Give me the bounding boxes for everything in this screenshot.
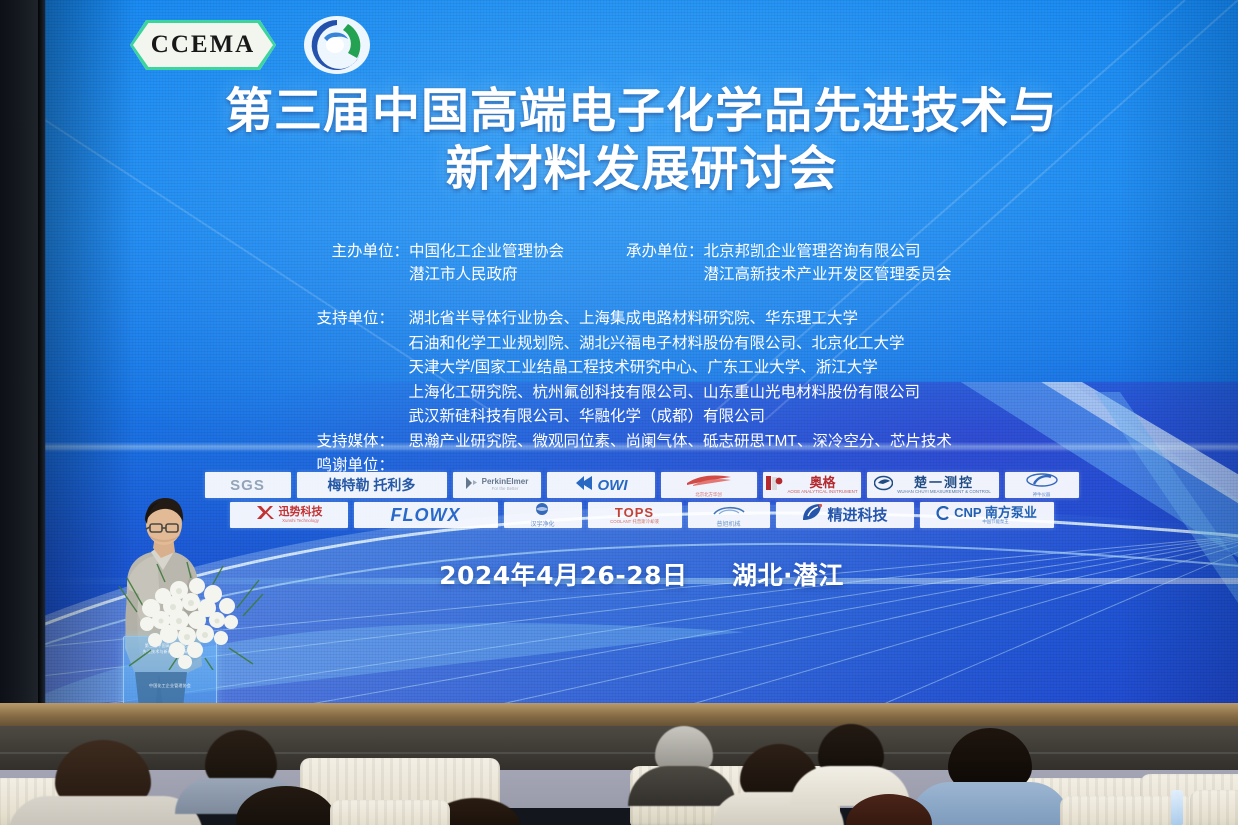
host-organizer-label: 主办单位： <box>331 240 409 286</box>
lectern-text-4: 中国化工企业管理协会 <box>124 683 216 688</box>
c-blue-icon <box>936 506 950 525</box>
sponsor-logo-perkinelmer: PerkinElmer For the Better <box>453 472 541 498</box>
screen-left-edge <box>38 0 46 712</box>
sponsor-logo-owi: OWI <box>547 472 655 498</box>
conference-stage-photo: CCEMA 第三届中国高端电子化学品先进技术与 新材料发展研讨会 主办单位： <box>0 0 1238 825</box>
sponsor-logo-sgs: SGS <box>205 472 291 498</box>
support-media-label: 支持媒体： <box>317 430 409 455</box>
sponsor-logo-tops: TOPS COOLANT 托普斯冷却液 <box>588 502 682 528</box>
sponsor-row-1: SGS 梅特勒 托利多 PerkinElmer For the Better <box>205 472 1079 498</box>
co-organizer-label: 承办单位： <box>626 240 704 286</box>
swirl-logo <box>302 14 372 76</box>
title-line-2: 新材料发展研讨会 <box>45 140 1238 198</box>
support-units-label: 支持单位： <box>317 307 409 332</box>
host-organizer-value-1: 中国化工企业管理协会 <box>409 240 564 263</box>
support-units-line-3: 天津大学/国家工业结晶工程技术研究中心、广东工业大学、浙江大学 <box>409 356 967 381</box>
co-organizer: 承办单位： 北京邦凯企业管理咨询有限公司 潜江高新技术产业开发区管理委员会 <box>626 240 952 286</box>
ccema-logo-text: CCEMA <box>151 31 255 59</box>
flower-arrangement <box>117 560 267 670</box>
seat <box>1060 796 1210 825</box>
sponsor-logo-cnp: CNP 南方泵业 中国节能泵王 <box>920 502 1054 528</box>
co-organizer-value-1: 北京邦凯企业管理咨询有限公司 <box>704 240 952 263</box>
sponsor-logo-chuyi: 楚一测控 WUHAN CHUYI MEASUREMENT & CONTROL <box>867 472 999 498</box>
organizer-row: 主办单位： 中国化工企业管理协会 潜江市人民政府 承办单位： 北京邦凯企业管理咨… <box>45 240 1238 286</box>
support-block: 支持单位： 湖北省半导体行业协会、上海集成电路材料研究院、华东理工大学 石油和化… <box>45 307 1238 479</box>
swoosh-red-icon <box>685 473 733 492</box>
eye-blue-icon <box>874 475 893 496</box>
support-units-line-2: 石油和化学工业规划院、湖北兴福电子材料股份有限公司、北京化工大学 <box>409 332 967 357</box>
sponsor-logo-jingjin: 精进科技 <box>776 502 914 528</box>
host-organizer: 主办单位： 中国化工企业管理协会 潜江市人民政府 <box>331 240 564 286</box>
attendee-body <box>8 796 203 825</box>
arc-blue-icon <box>712 503 746 521</box>
support-units-line-4: 上海化工研究院、杭州氟创科技有限公司、山东重山光电材料股份有限公司 <box>409 381 967 406</box>
sponsor-row-2: 迅势科技 Xunshi Technology FLOWX <box>230 502 1054 528</box>
audience-area <box>0 700 1238 825</box>
event-location: 湖北·潜江 <box>732 556 844 592</box>
oval-blue-icon <box>1025 473 1059 492</box>
water-bottle <box>1171 790 1183 825</box>
sponsor-logo-aoge: 奥格 AOGE ANALYTICAL INSTRUMENT <box>763 472 861 498</box>
leaf-blue-icon <box>801 503 823 527</box>
event-date: 2024年4月26-28日 <box>439 556 687 592</box>
support-units-line-5: 武汉新硅科技有限公司、华融化学（成都）有限公司 <box>409 405 967 430</box>
red-block-icon <box>765 474 783 496</box>
globe-blue-icon <box>534 502 550 521</box>
wave-icon <box>574 475 594 496</box>
header-logo-row: CCEMA <box>130 14 372 76</box>
co-organizer-value-2: 潜江高新技术产业开发区管理委员会 <box>704 263 952 286</box>
sponsor-logo-hanyu: 汉宇净化 <box>504 502 582 528</box>
seat <box>1190 790 1238 825</box>
support-units-line-1: 湖北省半导体行业协会、上海集成电路材料研究院、华东理工大学 <box>409 307 967 332</box>
title-line-1: 第三届中国高端电子化学品先进技术与 <box>45 82 1238 140</box>
triangle-icon <box>465 476 478 495</box>
sponsor-logo-naura: 北京北方华创 <box>661 472 757 498</box>
support-media-line: 思瀚产业研究院、微观同位素、尚阑气体、砥志研思TMT、深冷空分、芯片技术 <box>409 430 967 455</box>
ccema-logo: CCEMA <box>130 20 276 70</box>
host-organizer-value-2: 潜江市人民政府 <box>409 263 564 286</box>
sponsor-logo-puxu: 普旭机械 <box>688 502 770 528</box>
sponsor-logo-mettler-toledo: 梅特勒 托利多 <box>297 472 447 498</box>
seat <box>330 800 450 825</box>
sponsor-logo-shenniu: 神牛仪器 <box>1005 472 1079 498</box>
attendee-body <box>910 782 1070 825</box>
sponsor-logo-flowx: FLOWX <box>354 502 498 528</box>
event-title: 第三届中国高端电子化学品先进技术与 新材料发展研讨会 <box>45 82 1238 198</box>
